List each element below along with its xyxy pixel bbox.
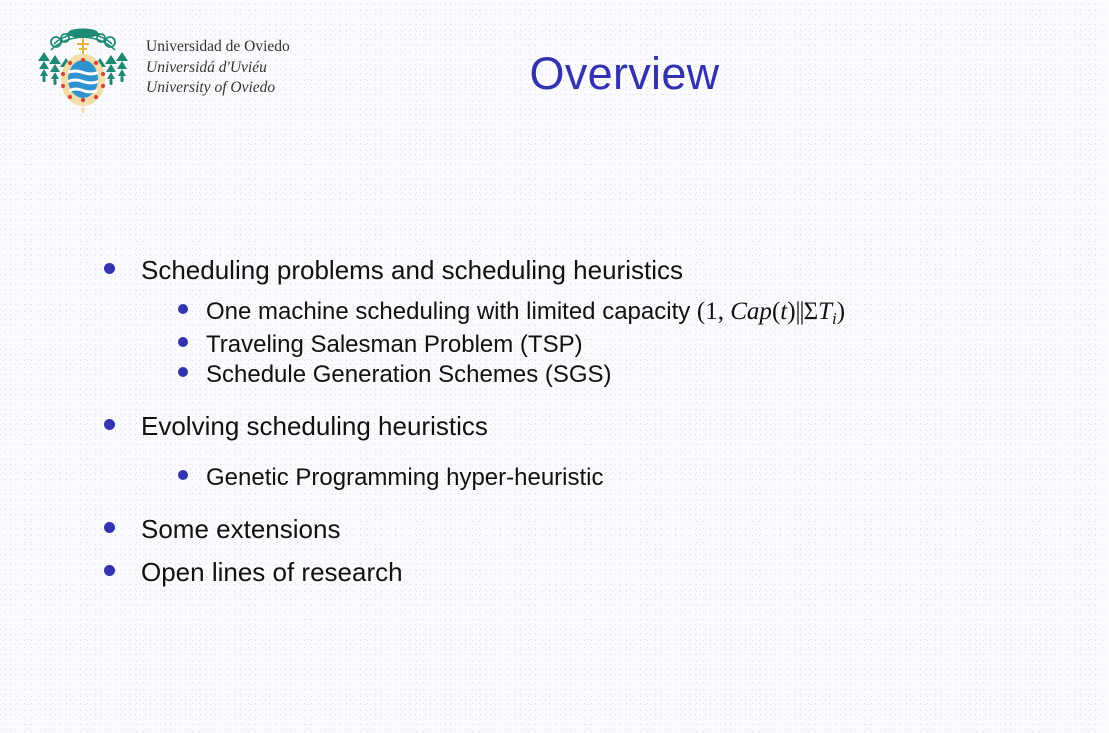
bullet-marker-icon [104,522,115,533]
outline-item-level2: Traveling Salesman Problem (TSP) [178,331,1069,359]
outline-item-text: Open lines of research [141,557,403,588]
outline-item-level1: Scheduling problems and scheduling heuri… [104,255,1069,286]
bullet-marker-icon [104,565,115,576]
outline-item-text: Traveling Salesman Problem (TSP) [206,331,583,359]
slide-title: Overview [0,48,1109,100]
outline-item-text: Evolving scheduling heuristics [141,411,488,442]
outline-item-level1: Evolving scheduling heuristics [104,411,1069,442]
bullet-marker-icon [178,337,188,347]
outline-item-text: One machine scheduling with limited capa… [206,298,697,325]
presentation-slide: Universidad de Oviedo Universidá d'Uviéu… [0,0,1109,733]
outline-item-text: Genetic Programming hyper-heuristic [206,464,604,492]
math-expression: (1, Cap(t)||ΣTi) [697,298,845,325]
outline-item-text: Scheduling problems and scheduling heuri… [141,255,683,286]
outline-item-level1: Open lines of research [104,557,1069,588]
bullet-marker-icon [178,304,188,314]
bullet-marker-icon [104,419,115,430]
outline-item-level1: Some extensions [104,514,1069,545]
outline-item-text: Schedule Generation Schemes (SGS) [206,361,612,389]
slide-content-outline: Scheduling problems and scheduling heuri… [104,255,1069,594]
outline-item-text: Some extensions [141,514,340,545]
outline-item-text-with-math: One machine scheduling with limited capa… [206,298,845,329]
outline-item-level2: One machine scheduling with limited capa… [178,298,1069,329]
bullet-marker-icon [178,470,188,480]
bullet-marker-icon [178,367,188,377]
outline-item-level2: Schedule Generation Schemes (SGS) [178,361,1069,389]
outline-item-level2: Genetic Programming hyper-heuristic [178,464,1069,492]
bullet-marker-icon [104,263,115,274]
